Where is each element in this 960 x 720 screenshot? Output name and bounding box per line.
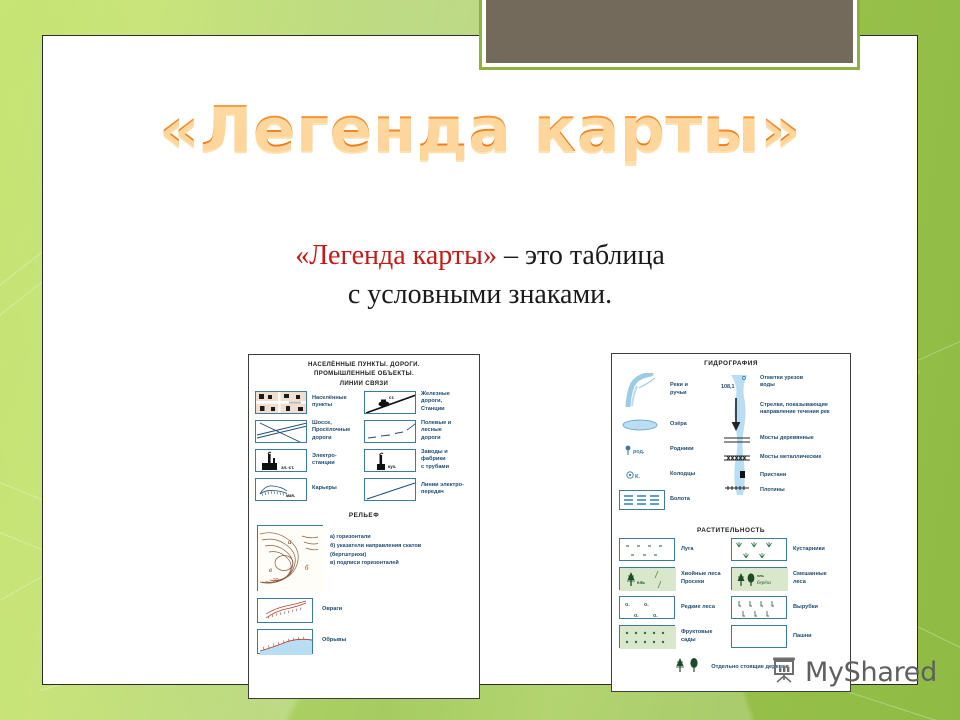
watermark-text: MyShared xyxy=(805,657,937,688)
shrubs-icon xyxy=(731,538,787,561)
legend-label-sparse-forest: Редкие леса xyxy=(681,604,715,611)
legend-row-ravine: Овраги xyxy=(257,598,471,623)
legend-section-vegetation: РАСТИТЕЛЬНОСТЬ xyxy=(612,515,850,538)
river-diagram: 108,1 xyxy=(720,373,754,515)
svg-text:К.: К. xyxy=(635,474,640,480)
legend-label-factory: Заводы и фабрики с трубами xyxy=(421,449,449,472)
svg-text:а: а xyxy=(288,538,292,546)
legend-row-marshes: Болота xyxy=(619,490,716,510)
legend-row-power-station: эл.-ст. Электро- станции xyxy=(255,449,364,472)
svg-text:ель: ель xyxy=(637,580,645,585)
svg-text:род.: род. xyxy=(633,449,645,455)
legend-label-quarry: Карьеры xyxy=(312,485,337,493)
legend-row-orchards: Фруктовые сады xyxy=(619,625,731,648)
legend-row-shrubs: Кустарники xyxy=(731,538,843,561)
factory-chimney-icon: кух. xyxy=(364,449,416,472)
vegetation-block: Луга ель xyxy=(612,538,850,654)
legend-left-column-1: Населённые пункты Шоссе, Просё xyxy=(255,391,364,507)
hydrography-column-right: Отметки урезов воды Стрелки, показывающи… xyxy=(758,373,843,515)
photo-placeholder-frame xyxy=(479,0,860,70)
field-forest-road-icon xyxy=(364,420,416,443)
subtitle-line2: с условными знаками. xyxy=(348,279,612,310)
legend-label-flow-arrow: Стрелки, показывающие направление течени… xyxy=(760,402,830,417)
svg-text:о.: о. xyxy=(634,613,639,619)
legend-row-sparse-forest: о.о. о.о. Редкие леса xyxy=(619,596,731,619)
svg-text:ель: ель xyxy=(757,574,765,578)
railway-station-icon: ст. xyxy=(364,391,416,414)
legend-label-springs: Родники xyxy=(670,446,694,454)
legend-row-power-line: Линии электро- передач xyxy=(364,478,473,501)
legend-row-factory: кух. Заводы и фабрики с трубами xyxy=(364,449,473,472)
legend-label-pier: Пристани xyxy=(760,472,786,479)
legend-row-settlements: Населённые пункты xyxy=(255,391,364,414)
legend-row-highway: Шоссе, Просёлочные дороги xyxy=(255,420,364,443)
legend-label-orchards: Фруктовые сады xyxy=(681,629,712,644)
svg-text:108,1: 108,1 xyxy=(721,384,735,390)
legend-label-highway: Шоссе, Просёлочные дороги xyxy=(312,420,350,443)
legend-left-header: НАСЕЛЁННЫЕ ПУНКТЫ. ДОРОГИ. ПРОМЫШЛЕННЫЕ … xyxy=(249,355,479,391)
standalone-trees-icon xyxy=(673,656,703,679)
legend-label-metal-bridge: Мосты металлические xyxy=(760,454,821,461)
legend-left-column-2: ст. Железные дороги, Станции xyxy=(364,391,473,507)
legend-row-meadows: Луга xyxy=(619,538,731,561)
legend-label-shrubs: Кустарники xyxy=(793,546,825,553)
legend-row-clearcuts: Вырубки xyxy=(731,596,843,619)
legend-label-wooden-bridge: Мосты деревянные xyxy=(760,435,814,442)
subtitle-rest: – это таблица xyxy=(497,240,665,271)
legend-section-relief: РЕЛЬЕФ xyxy=(249,507,479,523)
legend-row-rivers: Реки и ручьи xyxy=(619,373,716,407)
slide-title: «Легенда карты» xyxy=(43,98,917,161)
contour-lines-icon: а б в 20 xyxy=(257,525,323,591)
springs-icon: род. xyxy=(619,440,665,460)
legend-row-coniferous: ель Хвойные леса Просеки xyxy=(619,567,731,590)
legend-row-quarry: мая. Карьеры xyxy=(255,478,364,501)
legend-label-power-station: Электро- станции xyxy=(312,453,337,468)
wells-icon: К. xyxy=(619,465,665,485)
legend-row-cliff: Обрывы xyxy=(257,629,471,654)
watermark: MyShared xyxy=(770,655,937,690)
slide-canvas: «Легенда карты» «Легенда карты» «Легенда… xyxy=(42,35,918,685)
legend-row-railway: ст. Железные дороги, Станции xyxy=(364,391,473,414)
legend-left-rows: Населённые пункты Шоссе, Просё xyxy=(249,391,479,507)
legend-row-arable: Пашни xyxy=(731,625,843,648)
legend-label-field-road: Полевые и лесные дороги xyxy=(421,420,451,443)
presentation-chart-icon xyxy=(770,655,801,690)
legend-label-marshes: Болота xyxy=(670,496,690,504)
svg-text:20: 20 xyxy=(273,578,279,584)
lakes-icon xyxy=(619,415,665,435)
subtitle-highlight: «Легенда карты» xyxy=(295,240,497,271)
legend-label-coniferous: Хвойные леса Просеки xyxy=(681,571,721,586)
power-station-icon: эл.-ст. xyxy=(255,449,307,472)
legend-section-hydrography: ГИДРОГРАФИЯ xyxy=(612,354,850,371)
rivers-streams-icon xyxy=(619,373,665,407)
legend-label-ravine: Овраги xyxy=(322,606,342,614)
legend-label-wells: Колодцы xyxy=(670,471,695,479)
marshes-icon xyxy=(619,490,665,510)
relief-contours-block: а б в 20 а) горизонтали б) указатели нап… xyxy=(249,523,479,591)
legend-row-wells: К. Колодцы xyxy=(619,465,716,485)
relief-extra-rows: Овраги Обрывы xyxy=(249,591,479,654)
legend-label-dam: Плотины xyxy=(760,487,785,494)
relief-items-text: а) горизонтали б) указатели направления … xyxy=(330,525,421,569)
legend-label-arable: Пашни xyxy=(793,633,812,640)
svg-text:эл.-ст.: эл.-ст. xyxy=(281,465,294,470)
svg-text:мая.: мая. xyxy=(286,493,295,498)
power-line-icon xyxy=(364,478,416,501)
svg-text:о.: о. xyxy=(644,602,649,608)
orchards-icon xyxy=(619,625,675,648)
legend-row-springs: род. Родники xyxy=(619,440,716,460)
hydrography-column-left: Реки и ручьи Озёра xyxy=(619,373,716,515)
clearcuts-icon xyxy=(731,596,787,619)
legend-label-rivers: Реки и ручьи xyxy=(670,382,688,397)
legend-label-lakes: Озёра xyxy=(670,421,687,429)
mixed-forest-icon: ель берёза xyxy=(731,567,787,590)
meadows-icon xyxy=(619,538,675,561)
legend-card-settlements-roads: НАСЕЛЁННЫЕ ПУНКТЫ. ДОРОГИ. ПРОМЫШЛЕННЫЕ … xyxy=(248,354,480,699)
legend-row-mixed-forest: ель берёза Смешанные леса xyxy=(731,567,843,590)
hydrography-block: Реки и ручьи Озёра xyxy=(612,371,850,515)
svg-text:о.: о. xyxy=(653,613,658,619)
svg-text:берёза: берёза xyxy=(757,581,771,586)
vegetation-column-left: Луга ель xyxy=(619,538,731,654)
legend-label-power-line: Линии электро- передач xyxy=(421,482,464,497)
legend-row-field-road: Полевые и лесные дороги xyxy=(364,420,473,443)
legend-card-hydrography-vegetation: ГИДРОГРАФИЯ Реки и ручьи xyxy=(611,353,851,692)
legend-row-lakes: Озёра xyxy=(619,415,716,435)
legend-label-settlements: Населённые пункты xyxy=(312,395,347,410)
svg-text:кух.: кух. xyxy=(388,464,396,469)
svg-text:в: в xyxy=(269,566,272,574)
sparse-forest-icon: о.о. о.о. xyxy=(619,596,675,619)
legend-label-cliff: Обрывы xyxy=(322,637,346,645)
svg-text:о.: о. xyxy=(625,602,630,608)
legend-label-meadows: Луга xyxy=(681,546,693,553)
cliff-icon xyxy=(257,629,313,654)
arable-land-icon xyxy=(731,625,787,648)
photo-placeholder-image xyxy=(486,0,853,63)
vegetation-column-right: Кустарники ел xyxy=(731,538,843,654)
svg-text:ст.: ст. xyxy=(389,395,394,400)
legend-label-water-marks: Отметки урезов воды xyxy=(760,375,803,390)
highway-dirt-road-icon xyxy=(255,420,307,443)
quarry-icon: мая. xyxy=(255,478,307,501)
legend-label-mixed-forest: Смешанные леса xyxy=(793,571,827,586)
legend-label-railway: Железные дороги, Станции xyxy=(421,391,450,414)
svg-text:б: б xyxy=(305,564,309,572)
settlement-blocks-icon xyxy=(255,391,307,414)
coniferous-forest-icon: ель xyxy=(619,567,675,590)
slide-subtitle: «Легенда карты» – это таблица с условным… xyxy=(133,236,827,314)
ravine-icon xyxy=(257,598,313,623)
legend-label-clearcuts: Вырубки xyxy=(793,604,818,611)
